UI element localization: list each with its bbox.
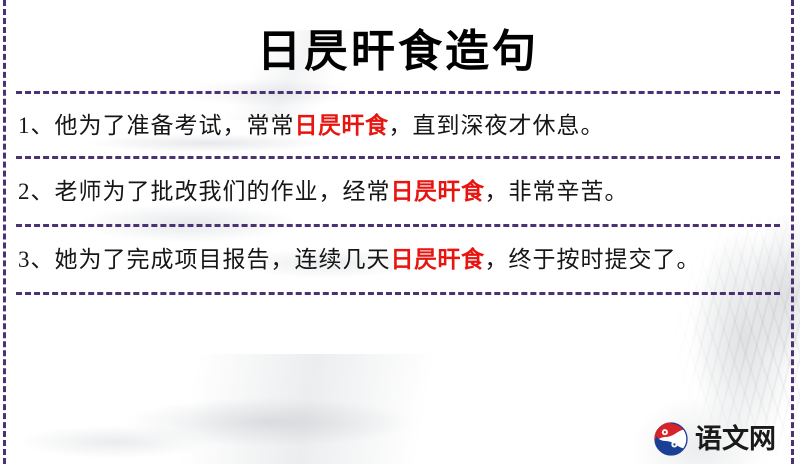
sentence-2-after: ，非常辛苦。 [485,179,629,204]
sentence-3-index: 3、 [18,247,55,272]
sentence-2-before: 老师为了批改我们的作业，经常 [55,179,391,204]
sentence-1-idiom: 日昃旰食 [295,113,389,138]
site-logo[interactable]: 语文网 [654,422,776,456]
content-area: 日昃旰食造句 1、他为了准备考试，常常日昃旰食，直到深夜才休息。 2、老师为了批… [0,0,800,464]
dashed-divider-4 [16,292,780,295]
sentence-2-index: 2、 [18,179,55,204]
site-logo-text: 语文网 [695,426,776,453]
yinyang-fish-logo-icon [654,422,688,456]
sentence-3-after: ，终于按时提交了。 [485,247,701,272]
poster-page: 日昃旰食造句 1、他为了准备考试，常常日昃旰食，直到深夜才休息。 2、老师为了批… [0,0,800,464]
sentence-3-idiom: 日昃旰食 [391,247,485,272]
sentence-item-2: 2、老师为了批改我们的作业，经常日昃旰食，非常辛苦。 [16,159,780,223]
sentence-1-after: ，直到深夜才休息。 [389,113,605,138]
sentence-1-before: 他为了准备考试，常常 [55,113,295,138]
sentence-3-before: 她为了完成项目报告，连续几天 [55,247,391,272]
sentence-2-idiom: 日昃旰食 [391,179,485,204]
sentence-item-1: 1、他为了准备考试，常常日昃旰食，直到深夜才休息。 [16,94,780,156]
sentence-item-3: 3、她为了完成项目报告，连续几天日昃旰食，终于按时提交了。 [16,227,780,292]
page-title: 日昃旰食造句 [16,0,780,79]
sentence-1-index: 1、 [18,113,55,138]
